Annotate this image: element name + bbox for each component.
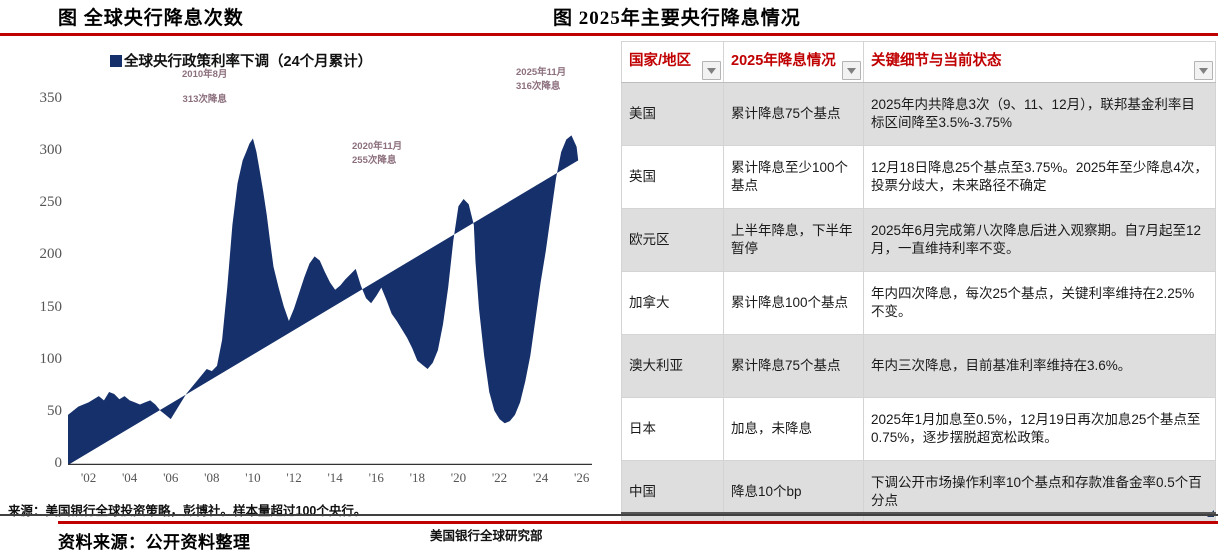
table-row: 英国累计降息至少100个基点12月18日降息25个基点至3.75%。2025年至… [622,146,1216,209]
chart-source-note: 来源：美国银行全球投资策略，彭博社。样本量超过100个央行。 [8,500,366,519]
x-axis-tick-label: '26 [574,470,589,486]
filter-dropdown-detail-icon[interactable] [1194,61,1213,80]
left-figure-title: 图 全球央行降息次数 [58,3,244,30]
y-axis-tick-label: 350 [14,90,62,107]
cell-cuts: 累计降息100个基点 [724,272,864,335]
cell-detail: 年内四次降息，每次25个基点，关键利率维持在2.25% 不变。 [864,272,1216,335]
table-header-row: 国家/地区 2025年降息情况 关键细节与当前状态 [622,42,1216,83]
x-axis-tick-label: '10 [245,470,260,486]
table-header-detail-label: 关键细节与当前状态 [871,53,1002,69]
cell-country: 加拿大 [622,272,724,335]
cell-country: 澳大利亚 [622,335,724,398]
area-series-svg [68,79,592,465]
table-header-country-label: 国家/地区 [629,53,691,69]
x-axis-tick-label: '14 [327,470,342,486]
filter-dropdown-country-icon[interactable] [702,61,721,80]
cell-cuts: 上半年降息，下半年暂停 [724,209,864,272]
x-axis-tick-label: '08 [204,470,219,486]
central-banks-table-wrap: 国家/地区 2025年降息情况 关键细节与当前状态 [621,41,1216,513]
table-header-cuts-label: 2025年降息情况 [731,53,836,69]
cell-country: 日本 [622,398,724,461]
legend-swatch-icon [110,55,122,67]
x-axis-tick-label: '06 [163,470,178,486]
cell-detail: 12月18日降息25个基点至3.75%。2025年至少降息4次，投票分歧大，未来… [864,146,1216,209]
cell-cuts: 累计降息75个基点 [724,83,864,146]
x-axis: '02'04'06'08'10'12'14'16'18'20'22'24'26 [68,470,592,490]
cell-country: 英国 [622,146,724,209]
table-header-country: 国家/地区 [622,42,724,83]
table-row: 美国累计降息75个基点2025年内共降息3次（9、11、12月），联邦基金利率目… [622,83,1216,146]
legend-label: 全球央行政策利率下调（24个月累计） [124,54,372,70]
cell-detail: 2025年1月加息至0.5%，12月19日再次加息25个基点至0.75%，逐步摆… [864,398,1216,461]
y-axis-tick-label: 100 [14,351,62,368]
y-axis-tick-label: 0 [14,455,62,472]
y-axis-tick-label: 300 [14,142,62,159]
x-axis-tick-label: '18 [410,470,425,486]
x-axis-tick-label: '20 [451,470,466,486]
cell-country: 美国 [622,83,724,146]
table-header-detail: 关键细节与当前状态 [864,42,1216,83]
table-resize-handle-icon[interactable] [1207,504,1214,511]
plot-area [68,79,592,465]
cell-cuts: 加息，未降息 [724,398,864,461]
x-axis-tick-label: '04 [122,470,137,486]
y-axis-tick-label: 200 [14,246,62,263]
cell-country: 欧元区 [622,209,724,272]
table-row: 日本加息，未降息2025年1月加息至0.5%，12月19日再次加息25个基点至0… [622,398,1216,461]
chart-legend: 全球央行政策利率下调（24个月累计） [110,50,372,71]
footer-dark-rule [0,514,1218,516]
x-axis-tick-label: '12 [286,470,301,486]
cell-cuts: 累计降息75个基点 [724,335,864,398]
x-axis-tick-label: '02 [81,470,96,486]
footer-red-rule [58,521,1218,524]
area-series-path [68,135,578,465]
annotation-2025-line1: 2025年11月 [516,66,566,80]
y-axis-tick-label: 250 [14,194,62,211]
x-axis-tick-label: '22 [492,470,507,486]
x-axis-tick-label: '16 [369,470,384,486]
cell-cuts: 累计降息至少100个基点 [724,146,864,209]
table-row: 欧元区上半年降息，下半年暂停2025年6月完成第八次降息后进入观察期。自7月起至… [622,209,1216,272]
right-figure-title: 图 2025年主要央行降息情况 [553,3,801,30]
central-banks-table: 国家/地区 2025年降息情况 关键细节与当前状态 [621,41,1216,524]
global-rate-cuts-chart: 全球央行政策利率下调（24个月累计） 2010年8月 313次降息 2020年1… [0,36,618,514]
chart-credit-note: 美国银行全球研究部 [430,525,543,544]
table-row: 加拿大累计降息100个基点年内四次降息，每次25个基点，关键利率维持在2.25%… [622,272,1216,335]
table-body: 美国累计降息75个基点2025年内共降息3次（9、11、12月），联邦基金利率目… [622,83,1216,524]
y-axis: 050100150200250300350 [8,79,62,465]
x-axis-tick-label: '24 [533,470,548,486]
footer-source-note: 资料来源：公开资料整理 [58,528,251,553]
y-axis-tick-label: 150 [14,299,62,316]
y-axis-tick-label: 50 [14,403,62,420]
cell-detail: 2025年内共降息3次（9、11、12月），联邦基金利率目标区间降至3.5%-3… [864,83,1216,146]
table-row: 澳大利亚累计降息75个基点年内三次降息，目前基准利率维持在3.6%。 [622,335,1216,398]
titles-row: 图 全球央行降息次数 图 2025年主要央行降息情况 [0,0,1218,32]
cell-detail: 2025年6月完成第八次降息后进入观察期。自7月起至12月，一直维持利率不变。 [864,209,1216,272]
filter-dropdown-cuts-icon[interactable] [842,61,861,80]
cell-detail: 年内三次降息，目前基准利率维持在3.6%。 [864,335,1216,398]
table-header-cuts: 2025年降息情况 [724,42,864,83]
